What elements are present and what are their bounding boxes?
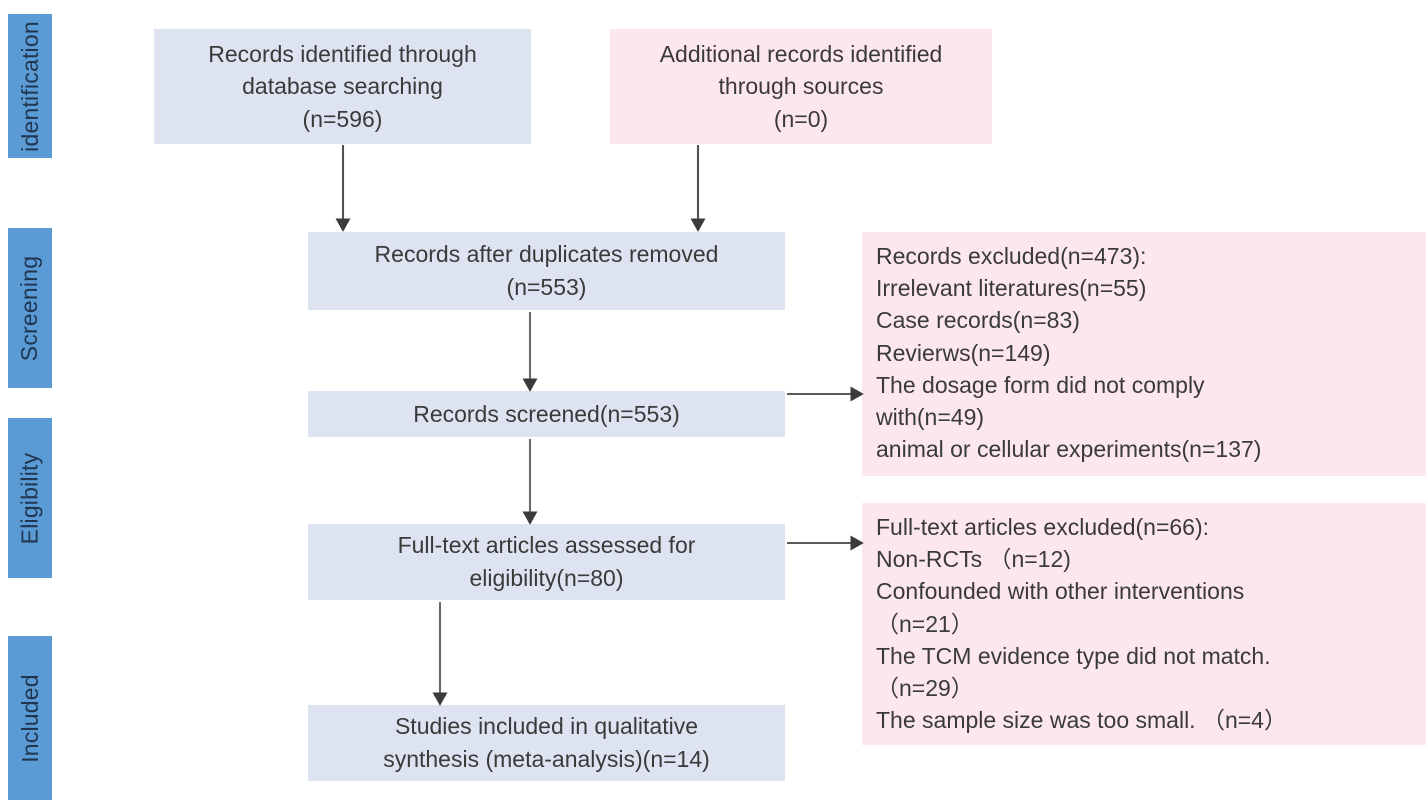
box-fulltext-excluded: Full-text articles excluded(n=66): Non-R…	[862, 503, 1426, 745]
box-records-identified-database: Records identified through database sear…	[154, 29, 531, 144]
stage-label-identification: identification	[8, 14, 52, 158]
stage-label-included-text: Included	[17, 674, 44, 763]
stage-label-screening: Screening	[8, 228, 52, 388]
stage-label-screening-text: Screening	[17, 255, 44, 360]
stage-label-eligibility: Eligibility	[8, 418, 52, 578]
box-additional-records-identified-text: Additional records identified through so…	[652, 38, 951, 136]
box-studies-included-text: Studies included in qualitative synthesi…	[375, 710, 718, 775]
box-fulltext-articles-assessed-text: Full-text articles assessed for eligibil…	[390, 529, 704, 594]
box-fulltext-articles-assessed: Full-text articles assessed for eligibil…	[308, 524, 785, 600]
box-studies-included: Studies included in qualitative synthesi…	[308, 705, 785, 781]
box-records-excluded: Records excluded(n=473): Irrelevant lite…	[862, 232, 1426, 476]
stage-label-identification-text: identification	[17, 21, 44, 152]
box-records-screened-text: Records screened(n=553)	[405, 398, 688, 431]
prisma-flow-diagram: identification Screening Eligibility Inc…	[0, 0, 1426, 812]
box-records-excluded-text: Records excluded(n=473): Irrelevant lite…	[876, 240, 1261, 465]
box-records-identified-database-text: Records identified through database sear…	[200, 38, 485, 136]
stage-label-eligibility-text: Eligibility	[17, 452, 44, 544]
box-records-after-duplicates-removed: Records after duplicates removed (n=553)	[308, 232, 785, 310]
box-fulltext-excluded-text: Full-text articles excluded(n=66): Non-R…	[876, 511, 1287, 736]
box-records-after-duplicates-removed-text: Records after duplicates removed (n=553)	[367, 238, 727, 303]
box-records-screened: Records screened(n=553)	[308, 391, 785, 437]
stage-label-included: Included	[8, 636, 52, 800]
box-additional-records-identified: Additional records identified through so…	[610, 29, 992, 144]
